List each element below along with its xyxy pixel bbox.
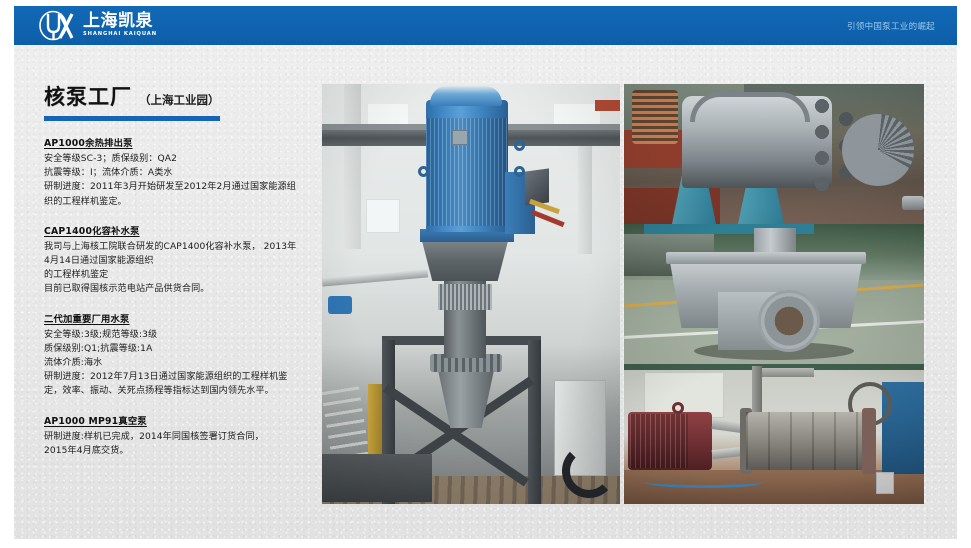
spec-section: 二代加重要厂用水泵 安全等级:3级;规范等级:3级 质保级别:Q1;抗震等级:1…: [44, 311, 324, 399]
slide-body: 核泵工厂 （上海工业园） AP1000余热排出泵 安全等级SC-3；质保级别：Q…: [14, 45, 957, 539]
spec-sections: AP1000余热排出泵 安全等级SC-3；质保级别：QA2 抗震等级：Ⅰ；流体介…: [44, 135, 324, 458]
section-heading: AP1000余热排出泵: [44, 135, 324, 149]
section-line: 质保级别:Q1;抗震等级:1A: [44, 342, 324, 356]
logo-text-cn: 上海凯泉: [83, 13, 157, 30]
left-text-column: 核泵工厂 （上海工业园） AP1000余热排出泵 安全等级SC-3；质保级别：Q…: [44, 81, 324, 458]
section-line: 安全等级SC-3；质保级别：QA2: [44, 152, 324, 166]
photo-grid-right: [624, 84, 924, 504]
section-heading: AP1000 MP91真空泵: [44, 413, 324, 427]
section-line: 安全等级:3级;规范等级:3级: [44, 328, 324, 342]
page-title: 核泵工厂 （上海工业园）: [44, 81, 324, 111]
spec-section: AP1000余热排出泵 安全等级SC-3；质保级别：QA2 抗震等级：Ⅰ；流体介…: [44, 135, 324, 209]
company-logo[interactable]: 上海凯泉 SHANGHAI KAIQUAN: [38, 9, 157, 42]
vertical-pump-factory-photo: [322, 84, 620, 504]
section-line: 流体介质:海水: [44, 356, 324, 370]
section-line: 定，效率、振动、关死点扬程等指标达到国内领先水平。: [44, 384, 324, 398]
section-line: 的工程样机鉴定: [44, 268, 324, 282]
page-title-sub: （上海工业园）: [139, 92, 220, 108]
section-heading: 二代加重要厂用水泵: [44, 311, 324, 325]
kaiquan-logo-icon: [38, 10, 76, 41]
slide-root: 上海凯泉 SHANGHAI KAIQUAN 引领中国泵工业的崛起 核泵工厂 （上…: [0, 0, 971, 548]
page-header: 上海凯泉 SHANGHAI KAIQUAN 引领中国泵工业的崛起: [14, 6, 957, 45]
section-line: 4月14日通过国家能源组织: [44, 254, 324, 268]
pump-casing-flange-photo: [624, 224, 924, 364]
section-line: 研制进度：2012年7月13日通过国家能源组织的工程样机鉴: [44, 370, 324, 384]
section-line: 2015年4月底交货。: [44, 444, 324, 458]
spec-section: AP1000 MP91真空泵 研制进度:样机已完成，2014年同国核签署订货合同…: [44, 413, 324, 458]
header-tagline: 引领中国泵工业的崛起: [847, 6, 935, 45]
red-motor-pump-testbed-photo: [624, 364, 924, 504]
section-line: 研制进度:样机已完成，2014年同国核签署订货合同，: [44, 430, 324, 444]
section-line: 我司与上海核工院联合研发的CAP1400化容补水泵， 2013年: [44, 240, 324, 254]
section-line: 目前已取得国核示范电站产品供货合同。: [44, 282, 324, 296]
title-underline-rule: [44, 116, 220, 121]
section-line: 抗震等级：Ⅰ；流体介质：A类水: [44, 166, 324, 180]
section-line: 织的工程样机鉴定。: [44, 195, 324, 209]
section-heading: CAP1400化容补水泵: [44, 223, 324, 237]
page-title-main: 核泵工厂: [44, 81, 132, 111]
section-line: 研制进度：2011年3月开始研发至2012年2月通过国家能源组: [44, 180, 324, 194]
horizontal-pump-blue-stands-photo: [624, 84, 924, 224]
spec-section: CAP1400化容补水泵 我司与上海核工院联合研发的CAP1400化容补水泵， …: [44, 223, 324, 297]
logo-text-en: SHANGHAI KAIQUAN: [83, 32, 157, 37]
